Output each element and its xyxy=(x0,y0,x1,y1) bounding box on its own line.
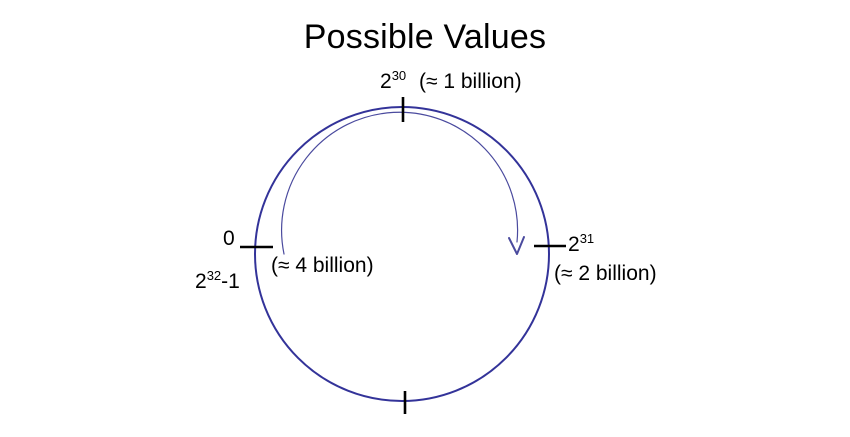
label-2-pow-31: 231 xyxy=(568,234,594,255)
number-wheel-diagram xyxy=(0,0,850,437)
label-approx-4-billion: (≈ 4 billion) xyxy=(271,255,374,276)
label-2-pow-30-exponent: 30 xyxy=(392,68,406,83)
label-2-pow-32-base: 2 xyxy=(195,270,207,293)
label-approx-2-billion: (≈ 2 billion) xyxy=(554,263,657,284)
label-approx-1-billion: (≈ 1 billion) xyxy=(419,71,522,92)
slide-canvas: Possible Values 230 (≈ 1 billion) 231 (≈… xyxy=(0,0,850,437)
label-2-pow-32-exponent: 32 xyxy=(207,268,221,283)
label-2-pow-31-exponent: 31 xyxy=(580,231,594,246)
label-2-pow-30-base: 2 xyxy=(380,70,392,93)
label-2-pow-32-suffix: -1 xyxy=(221,270,240,293)
arrowhead-icon xyxy=(509,237,524,254)
label-zero: 0 xyxy=(223,228,235,249)
label-2-pow-30: 230 xyxy=(380,71,406,92)
label-2-pow-32-minus-1: 232-1 xyxy=(195,271,240,292)
label-2-pow-31-base: 2 xyxy=(568,233,580,256)
